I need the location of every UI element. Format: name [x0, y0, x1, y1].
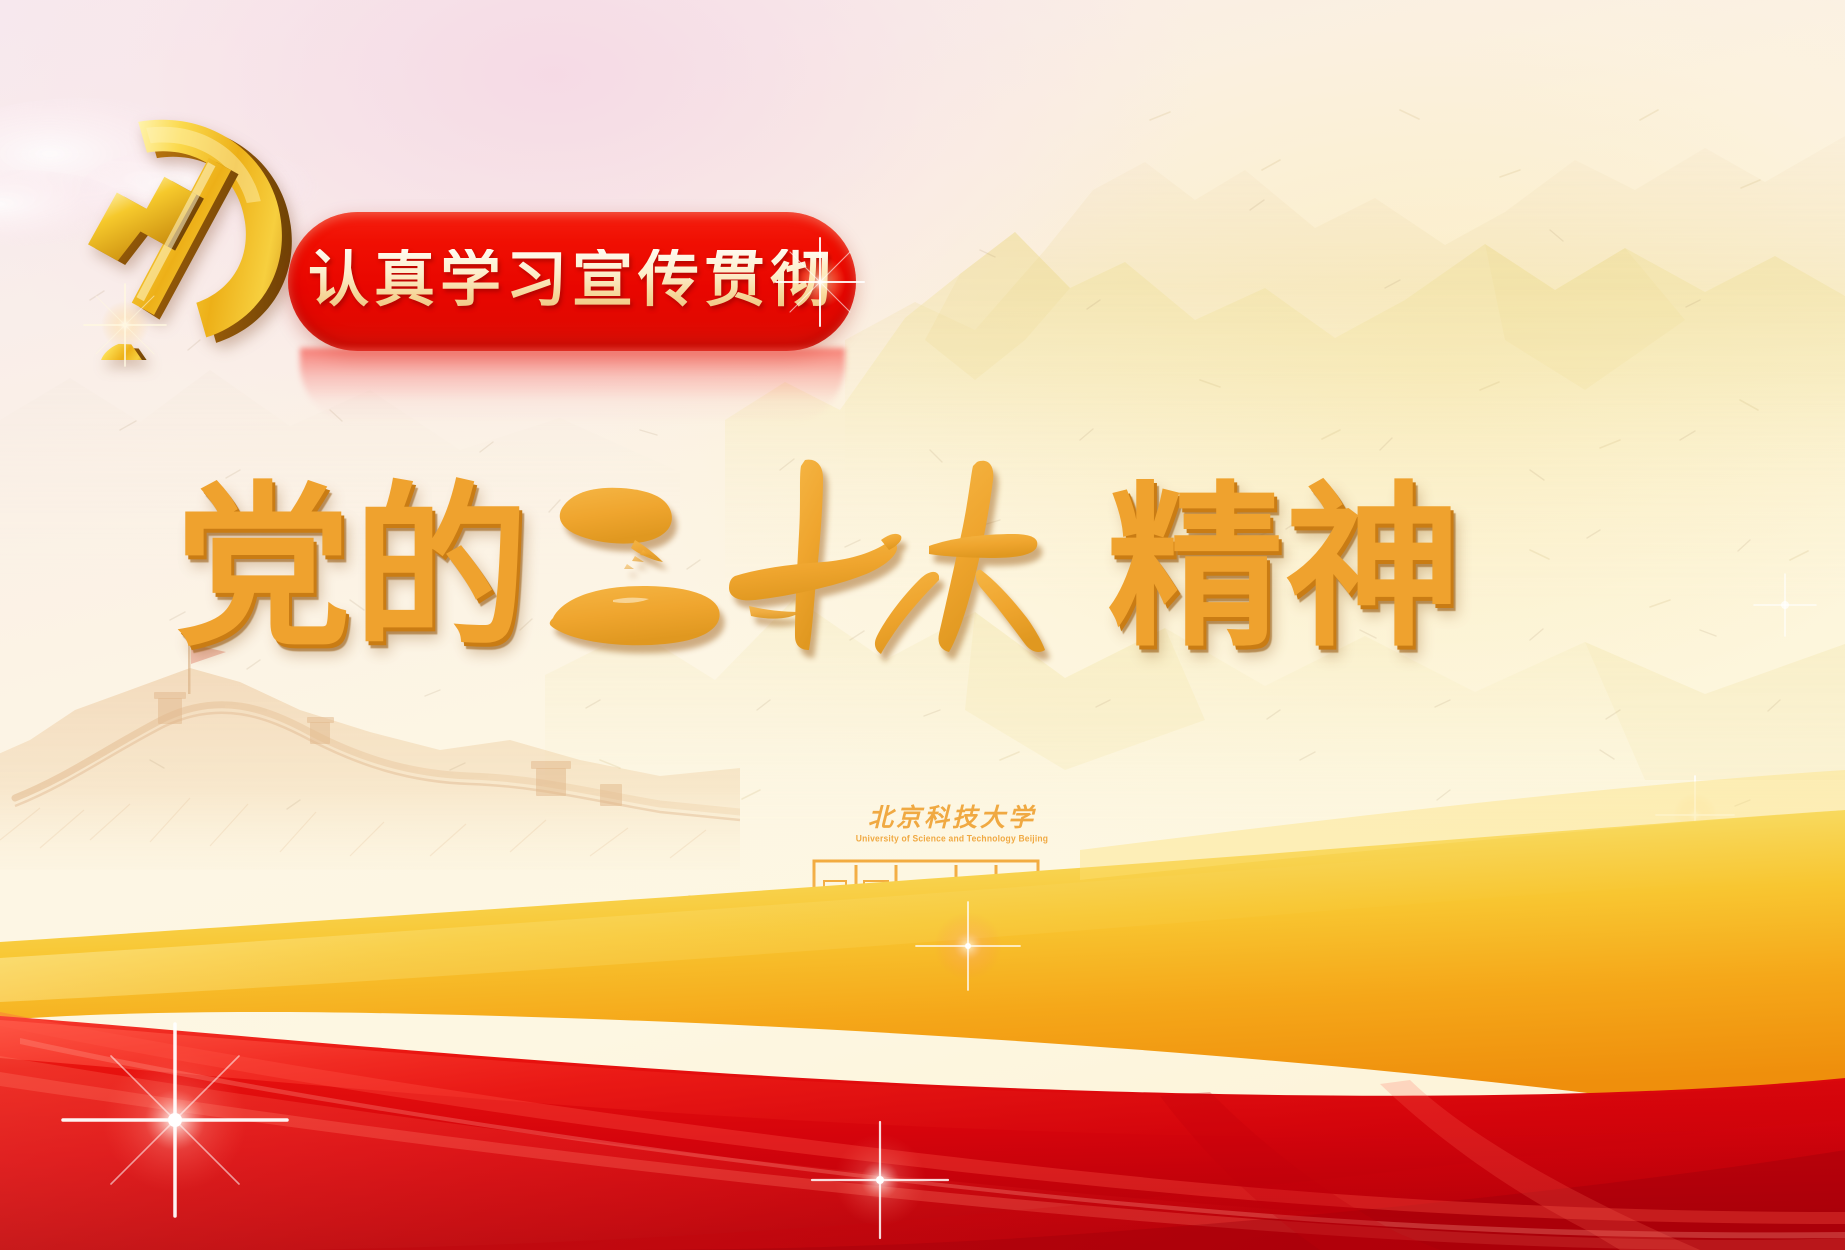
university-name-cn: 北京科技大学 — [852, 806, 1052, 831]
banner-pill: 认真学习宣传贯彻 — [288, 212, 856, 351]
page-title: 党的 — [175, 455, 1595, 655]
university-name-en: University of Science and Technology Bei… — [852, 834, 1052, 843]
title-brush-calligraphy — [539, 450, 1099, 655]
star-flare-icon — [1740, 560, 1830, 650]
ink-wash-mountains-icon — [845, 40, 1845, 470]
red-silk-ribbon — [0, 820, 1845, 1250]
banner-reflection — [300, 348, 845, 424]
poster-canvas: 认真学习宣传贯彻 — [0, 0, 1845, 1250]
gold-band — [0, 770, 1845, 1250]
title-segment-1: 党的 — [175, 483, 531, 655]
title-segment-2: 精神 — [1107, 483, 1463, 655]
star-flare-icon — [1640, 760, 1750, 870]
university-name: 北京科技大学 University of Science and Technol… — [852, 806, 1052, 843]
university-building-icon — [196, 835, 1656, 1020]
cpc-emblem-icon — [55, 95, 315, 360]
banner-label: 认真学习宣传贯彻 — [308, 249, 836, 314]
